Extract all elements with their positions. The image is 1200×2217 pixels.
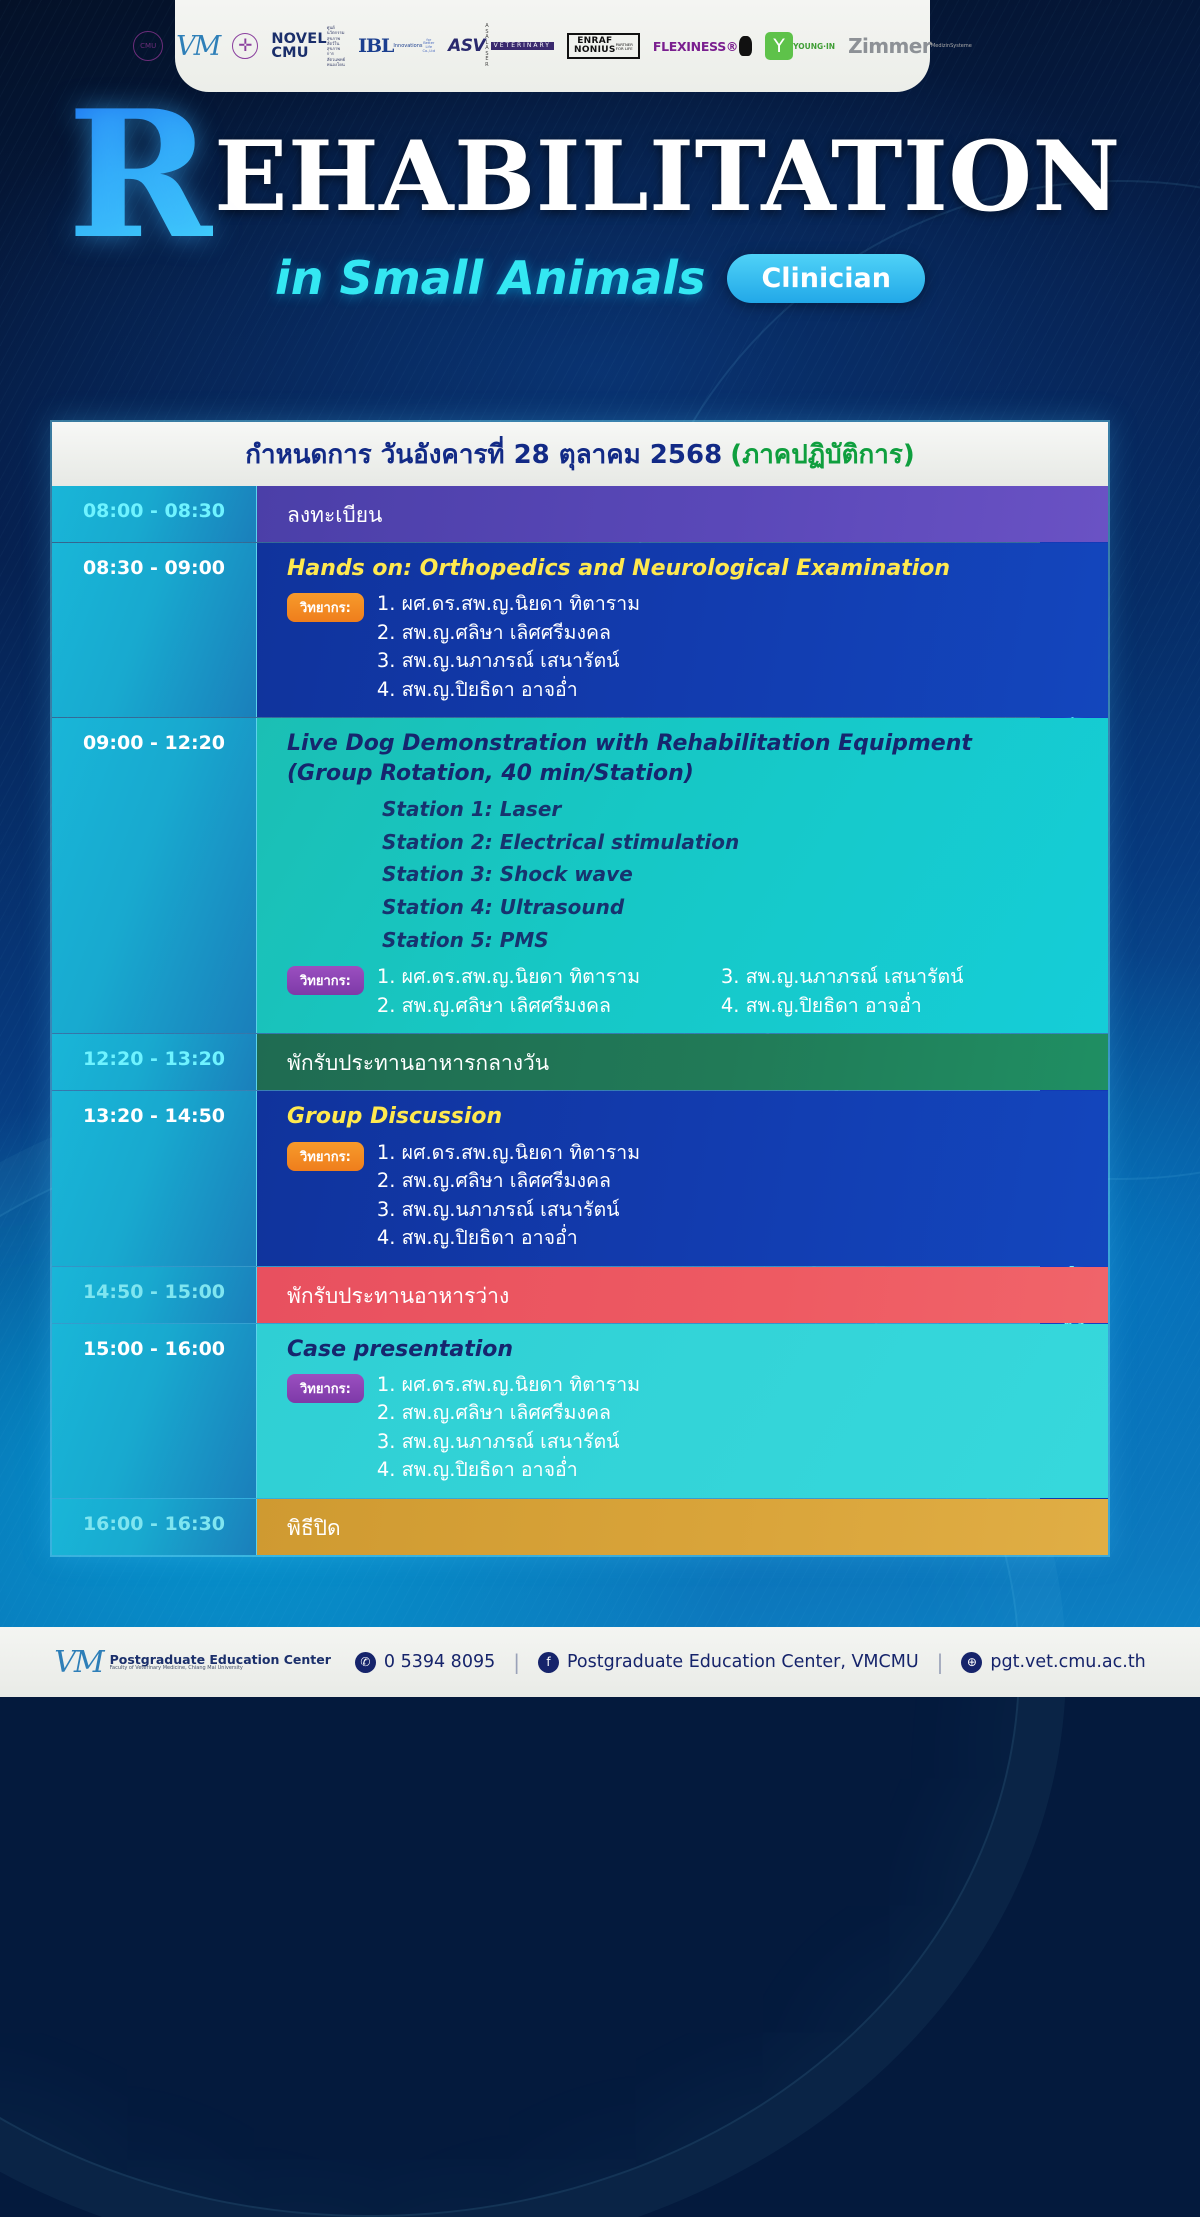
row-time: 09:00 - 12:20 (52, 718, 257, 1033)
table-row: 09:00 - 12:20 Live Dog Demonstration wit… (52, 718, 1108, 1034)
sponsor-logo-bar: CMU VM ✛ NOVEL CMU ศูนย์นวัตกรรมสุขภาพสั… (175, 0, 930, 92)
station-list: Station 1: Laser Station 2: Electrical s… (382, 793, 1024, 956)
footer-contact-bar: VM Postgraduate Education Center Faculty… (0, 1627, 1200, 1697)
table-row: 12:20 - 13:20 พักรับประทานอาหารกลางวัน (52, 1034, 1108, 1091)
enraf-title: ENRAF NONIUS (574, 37, 616, 56)
row-time: 12:20 - 13:20 (52, 1034, 257, 1090)
footer-facebook-text: Postgraduate Education Center, VMCMU (567, 1652, 919, 1672)
young-in-logo: Y YOUNG·IN (765, 32, 835, 60)
row-time: 15:00 - 16:00 (52, 1324, 257, 1498)
speaker-badge: วิทยากร: (287, 1142, 364, 1171)
session-title: Case presentation (287, 1335, 1024, 1364)
dog-icon (739, 36, 752, 56)
asv-title: ASV (448, 37, 485, 56)
footer-vm-mark: VM (54, 1645, 102, 1680)
table-row: 15:00 - 16:00 Case presentation วิทยากร:… (52, 1324, 1108, 1499)
row-activity: พักรับประทานอาหารกลางวัน (287, 1044, 1092, 1080)
speaker-list: 3. สพ.ญ.นภาภรณ์ เสนารัตน์ 4. สพ.ญ.ปิยธิด… (721, 963, 1021, 1020)
session-title: Live Dog Demonstration with Rehabilitati… (287, 729, 1024, 758)
vm-logo: VM (176, 31, 219, 62)
list-item: 1. ผศ.ดร.สพ.ญ.นิยดา ทิตาราม (377, 590, 640, 618)
clinician-badge: Clinician (727, 254, 925, 303)
ibl-note: for Better Life Co.,Ltd (422, 39, 435, 53)
footer-website[interactable]: ⊕ pgt.vet.cmu.ac.th (961, 1652, 1145, 1673)
footer-facebook[interactable]: f Postgraduate Education Center, VMCMU (538, 1652, 919, 1673)
title-subtitle: in Small Animals (275, 251, 705, 305)
schedule-rows: @ ห้องปฏิบัติการ C107 @ ห้องปฏิบัติการ C… (52, 486, 1108, 1555)
schedule-header-suffix: (ภาคปฏิบัติการ) (730, 434, 915, 475)
footer-phone-text: 0 5394 8095 (384, 1652, 495, 1672)
ibl-subtitle: Innovations (393, 44, 422, 49)
speaker-columns: 1. ผศ.ดร.สพ.ญ.นิยดา ทิตาราม 2. สพ.ญ.ศลิษ… (377, 963, 1021, 1020)
zimmer-logo: Zimmer MedizinSysteme (848, 36, 972, 56)
list-item: 4. สพ.ญ.ปิยธิดา อาจอ่ำ (377, 1456, 640, 1484)
row-body: พิธีปิด (257, 1499, 1108, 1555)
schedule-header: กำหนดการ วันอังคารที่ 28 ตุลาคม 2568 (ภา… (52, 422, 1108, 486)
speaker-block: วิทยากร: 1. ผศ.ดร.สพ.ญ.นิยดา ทิตาราม 2. … (287, 1139, 1024, 1253)
asv-note: VETERINARY (491, 42, 554, 51)
list-item: 2. สพ.ญ.ศลิษา เลิศศรีมงคล (377, 619, 640, 647)
speaker-list: 1. ผศ.ดร.สพ.ญ.นิยดา ทิตาราม 2. สพ.ญ.ศลิษ… (377, 590, 640, 704)
zimmer-subtitle: MedizinSysteme (931, 44, 972, 49)
footer-phone[interactable]: ✆ 0 5394 8095 (355, 1652, 495, 1673)
speaker-badge: วิทยากร: (287, 1374, 364, 1403)
list-item: Station 2: Electrical stimulation (382, 826, 1024, 859)
table-row: 16:00 - 16:30 พิธีปิด (52, 1499, 1108, 1555)
title-main-line: R EHABILITATION (79, 120, 1120, 245)
row-body: พักรับประทานอาหารกลางวัน (257, 1034, 1108, 1090)
enraf-subtitle: PARTNER FOR LIFE (616, 43, 633, 51)
row-body: Case presentation วิทยากร: 1. ผศ.ดร.สพ.ญ… (257, 1324, 1108, 1498)
list-item: 4. สพ.ญ.ปิยธิดา อาจอ่ำ (721, 992, 1021, 1020)
list-item: 2. สพ.ญ.ศลิษา เลิศศรีมงคล (377, 1399, 640, 1427)
enraf-nonius-logo: ENRAF NONIUS PARTNER FOR LIFE (567, 33, 640, 60)
globe-icon: ⊕ (961, 1652, 982, 1673)
asv-veterinary-logo: ASV A S A L A S E R VETERINARY (448, 24, 554, 68)
schedule-card: กำหนดการ วันอังคารที่ 28 ตุลาคม 2568 (ภา… (50, 420, 1110, 1557)
novel-cmu-subtitle: ศูนย์นวัตกรรมสุขภาพสัตว์ในสุขภาพการสัตวแ… (327, 25, 345, 67)
cmu-seal-logo: CMU (133, 31, 163, 61)
flexiness-logo: FLEXINESS® (653, 36, 752, 56)
session-title: Hands on: Orthopedics and Neurological E… (287, 554, 1024, 583)
row-time: 14:50 - 15:00 (52, 1267, 257, 1323)
speaker-badge: วิทยากร: (287, 593, 364, 622)
novel-cmu-title: NOVEL CMU (271, 32, 326, 61)
schedule-header-date: กำหนดการ วันอังคารที่ 28 ตุลาคม 2568 (245, 434, 722, 475)
list-item: Station 5: PMS (382, 924, 1024, 957)
footer-logo: VM Postgraduate Education Center Faculty… (54, 1645, 331, 1680)
list-item: 2. สพ.ญ.ศลิษา เลิศศรีมงคล (377, 992, 677, 1020)
speaker-badge: วิทยากร: (287, 966, 364, 995)
divider: | (937, 1650, 944, 1674)
row-body: ลงทะเบียน (257, 486, 1108, 542)
list-item: 3. สพ.ญ.นภาภรณ์ เสนารัตน์ (377, 647, 640, 675)
list-item: 4. สพ.ญ.ปิยธิดา อาจอ่ำ (377, 1224, 640, 1252)
divider: | (513, 1650, 520, 1674)
speaker-block: วิทยากร: 1. ผศ.ดร.สพ.ญ.นิยดา ทิตาราม 2. … (287, 1371, 1024, 1485)
list-item: 3. สพ.ญ.นภาภรณ์ เสนารัตน์ (377, 1428, 640, 1456)
footer-logo-subtitle: Faculty of Veterinary Medicine, Chiang M… (110, 1666, 331, 1671)
ibl-title: IBL (358, 37, 393, 56)
novel-cmu-logo: NOVEL CMU ศูนย์นวัตกรรมสุขภาพสัตว์ในสุขภ… (271, 25, 345, 67)
session-title: Group Discussion (287, 1102, 1024, 1131)
table-row: 14:50 - 15:00 พักรับประทานอาหารว่าง (52, 1267, 1108, 1324)
list-item: 3. สพ.ญ.นภาภรณ์ เสนารัตน์ (377, 1196, 640, 1224)
row-time: 08:00 - 08:30 (52, 486, 257, 542)
title-drop-cap: R (67, 88, 212, 263)
row-body: พักรับประทานอาหารว่าง (257, 1267, 1108, 1323)
young-in-name: YOUNG·IN (793, 43, 835, 51)
row-activity: ลงทะเบียน (287, 496, 1024, 532)
cross-logo: ✛ (232, 33, 258, 59)
list-item: Station 4: Ultrasound (382, 891, 1024, 924)
zimmer-title: Zimmer (848, 36, 931, 56)
poster-title-block: R EHABILITATION in Small Animals Clinici… (0, 120, 1200, 305)
list-item: 1. ผศ.ดร.สพ.ญ.นิยดา ทิตาราม (377, 963, 677, 991)
speaker-list: 1. ผศ.ดร.สพ.ญ.นิยดา ทิตาราม 2. สพ.ญ.ศลิษ… (377, 963, 677, 1020)
speaker-list: 1. ผศ.ดร.สพ.ญ.นิยดา ทิตาราม 2. สพ.ญ.ศลิษ… (377, 1371, 640, 1485)
table-row: 08:00 - 08:30 ลงทะเบียน (52, 486, 1108, 543)
row-body: Live Dog Demonstration with Rehabilitati… (257, 718, 1108, 1033)
young-in-mark: Y (765, 32, 793, 60)
list-item: Station 3: Shock wave (382, 858, 1024, 891)
row-time: 16:00 - 16:30 (52, 1499, 257, 1555)
row-activity: พักรับประทานอาหารว่าง (287, 1277, 1024, 1313)
row-body: Group Discussion วิทยากร: 1. ผศ.ดร.สพ.ญ.… (257, 1091, 1108, 1265)
footer-logo-title: Postgraduate Education Center (110, 1653, 331, 1667)
row-body: Hands on: Orthopedics and Neurological E… (257, 543, 1108, 717)
table-row: 08:30 - 09:00 Hands on: Orthopedics and … (52, 543, 1108, 718)
speaker-list: 1. ผศ.ดร.สพ.ญ.นิยดา ทิตาราม 2. สพ.ญ.ศลิษ… (377, 1139, 640, 1253)
footer-website-text: pgt.vet.cmu.ac.th (990, 1652, 1145, 1672)
facebook-icon: f (538, 1652, 559, 1673)
list-item: Station 1: Laser (382, 793, 1024, 826)
flexiness-title: FLEXINESS® (653, 39, 738, 54)
speaker-block: วิทยากร: 1. ผศ.ดร.สพ.ญ.นิยดา ทิตาราม 2. … (287, 963, 1024, 1020)
speaker-block: วิทยากร: 1. ผศ.ดร.สพ.ญ.นิยดา ทิตาราม 2. … (287, 590, 1024, 704)
list-item: 1. ผศ.ดร.สพ.ญ.นิยดา ทิตาราม (377, 1139, 640, 1167)
footer-logo-text: Postgraduate Education Center Faculty of… (110, 1653, 331, 1672)
list-item: 3. สพ.ญ.นภาภรณ์ เสนารัตน์ (721, 963, 1021, 991)
session-subtitle: (Group Rotation, 40 min/Station) (287, 759, 1024, 788)
row-activity: พิธีปิด (287, 1509, 1024, 1545)
ibl-innovations-logo: IBL Innovations for Better Life Co.,Ltd (358, 37, 435, 56)
list-item: 2. สพ.ญ.ศลิษา เลิศศรีมงคล (377, 1167, 640, 1195)
page-title: EHABILITATION (79, 120, 1120, 233)
phone-icon: ✆ (355, 1652, 376, 1673)
row-time: 13:20 - 14:50 (52, 1091, 257, 1265)
table-row: 13:20 - 14:50 Group Discussion วิทยากร: … (52, 1091, 1108, 1266)
list-item: 4. สพ.ญ.ปิยธิดา อาจอ่ำ (377, 676, 640, 704)
row-time: 08:30 - 09:00 (52, 543, 257, 717)
list-item: 1. ผศ.ดร.สพ.ญ.นิยดา ทิตาราม (377, 1371, 640, 1399)
